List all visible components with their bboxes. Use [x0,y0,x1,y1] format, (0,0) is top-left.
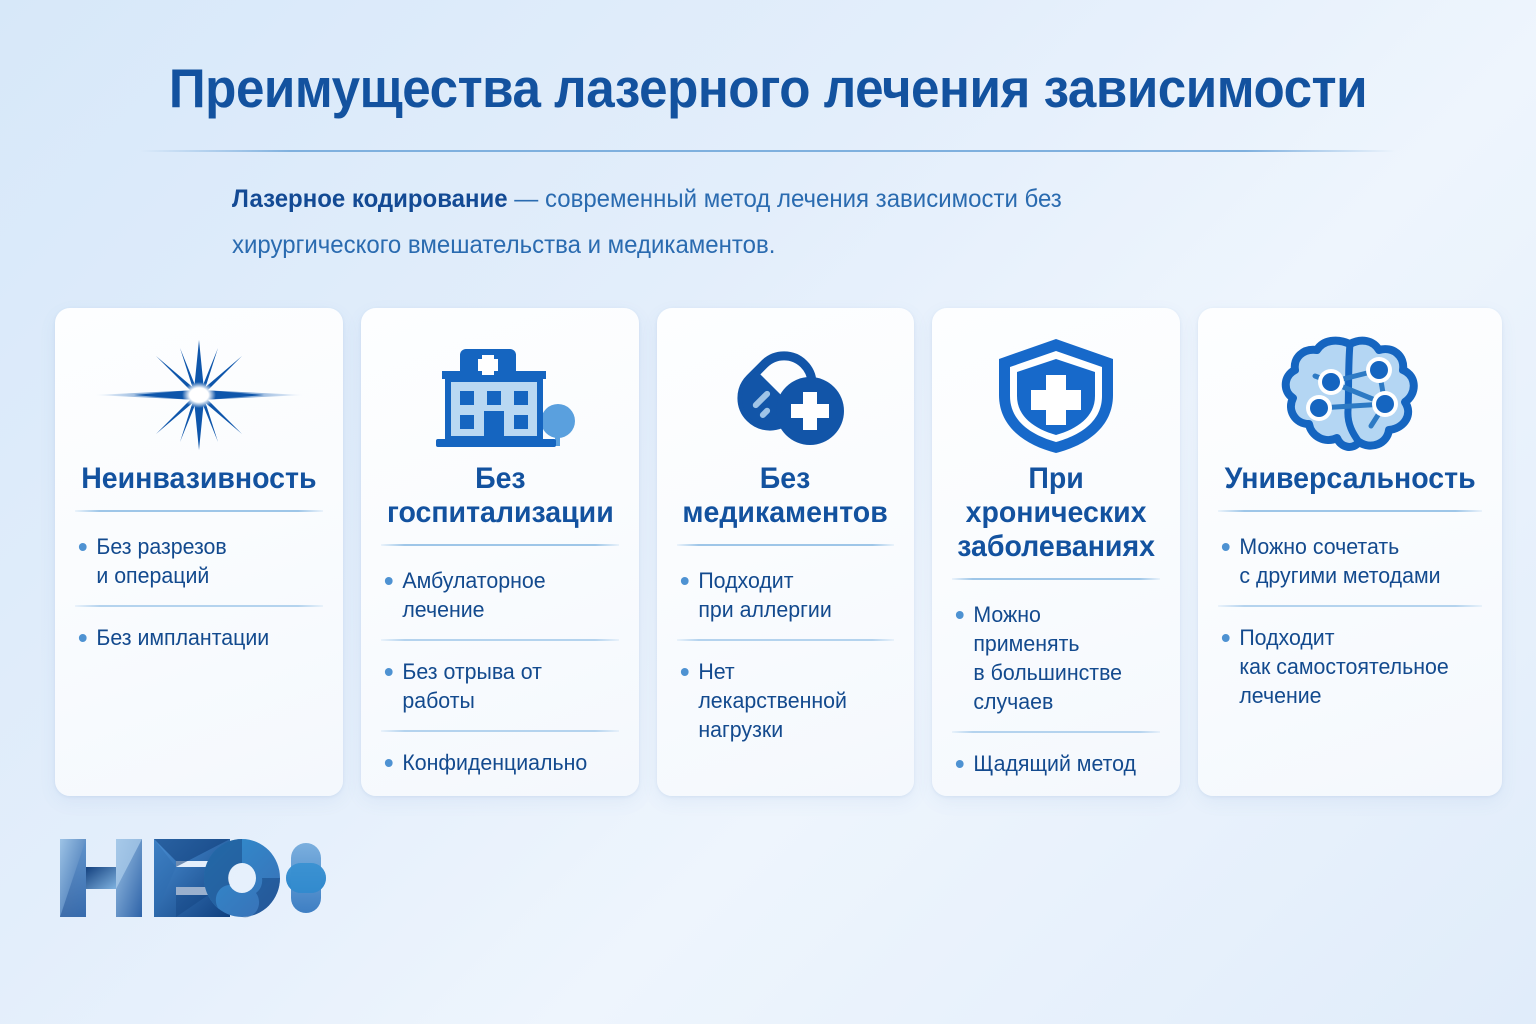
bullet-dot-icon [681,577,689,585]
list-item: Амбулаторное лечение [381,550,613,624]
list-item: Щадящий метод [952,733,1154,778]
bullet-dot-icon [955,760,963,768]
card-title-divider [75,510,323,512]
list-item: Без отрыва от работы [381,641,613,715]
infographic-canvas: Преимущества лазерного лечения зависимос… [0,0,1536,1024]
bullet-text: Щадящий метод [973,749,1136,778]
bullet-list: Можно сочетать с другими методами Подход… [1218,516,1482,710]
list-item: Можно применять в большинстве случаев [952,584,1154,716]
bullet-dot-icon [385,577,393,585]
bullet-text: Нет лекарственной нагрузки [699,657,885,744]
bullet-dot-icon [1222,634,1230,642]
bullet-text: Без разрезов и операций [96,532,226,590]
bullet-text: Без отрыва от работы [402,657,610,715]
bullet-list: Без разрезов и операций Без имплантации [75,516,323,652]
bullet-dot-icon [79,543,87,551]
bullet-list: Амбулаторное лечение Без отрыва от работ… [381,550,620,777]
bullet-text: Можно применять в большинстве случаев [973,600,1152,716]
list-item: Конфиденциально [381,732,613,777]
pills-cross-icon [715,334,855,456]
bullet-list: Можно применять в большинстве случаев Ща… [952,584,1160,778]
card-title-divider [381,544,620,546]
bullet-dot-icon [79,634,87,642]
card-title: При хронических заболеваниях [957,462,1155,564]
neo-plus-logo[interactable] [58,833,328,928]
card-title: Без медикаментов [683,462,888,530]
bullet-dot-icon [385,759,393,767]
bullet-text: Подходит при аллергии [699,566,832,624]
bullet-text: Подходит как самостоятельное лечение [1239,623,1448,710]
bullet-dot-icon [955,611,963,619]
list-item: Подходит как самостоятельное лечение [1218,607,1474,710]
list-item: Подходит при аллергии [677,550,887,624]
card-title-divider [952,578,1160,580]
bullet-dot-icon [1222,543,1230,551]
bullet-text: Амбулаторное лечение [402,566,545,624]
card-title-divider [677,544,893,546]
benefit-card-grid: Неинвазивность Без разрезов и операций Б… [55,308,1481,796]
card-title: Без госпитализации [387,462,614,530]
list-item: Без имплантации [75,607,315,652]
card-title-divider [1218,510,1482,512]
card-title: Неинвазивность [81,462,316,496]
list-item: Без разрезов и операций [75,516,315,590]
brain-network-icon [1275,334,1425,456]
card-title: Универсальность [1224,462,1475,496]
list-item: Можно сочетать с другими методами [1218,516,1474,590]
subtitle-strong: Лазерное кодирование [232,185,508,213]
benefit-card-noninvasive[interactable]: Неинвазивность Без разрезов и операций Б… [55,308,343,796]
bullet-dot-icon [385,668,393,676]
subtitle: Лазерное кодирование — современный метод… [232,176,1192,268]
shield-cross-icon [991,334,1121,456]
title-divider [140,150,1396,152]
bullet-dot-icon [681,668,689,676]
list-item: Нет лекарственной нагрузки [677,641,887,744]
bullet-text: Без имплантации [96,623,269,652]
benefit-card-universality[interactable]: Универсальность Можно сочетать с другими… [1198,308,1502,796]
laser-burst-icon [94,334,304,456]
bullet-text: Можно сочетать с другими методами [1239,532,1440,590]
benefit-card-no-hospitalization[interactable]: Без госпитализации Амбулаторное лечение … [361,308,640,796]
hospital-building-icon [420,334,580,456]
benefit-card-no-medication[interactable]: Без медикаментов Подходит при аллергии Н… [657,308,913,796]
bullet-list: Подходит при аллергии Нет лекарственной … [677,550,893,744]
benefit-card-chronic-conditions[interactable]: При хронических заболеваниях Можно приме… [932,308,1180,796]
bullet-text: Конфиденциально [402,748,587,777]
page-title: Преимущества лазерного лечения зависимос… [54,56,1482,120]
